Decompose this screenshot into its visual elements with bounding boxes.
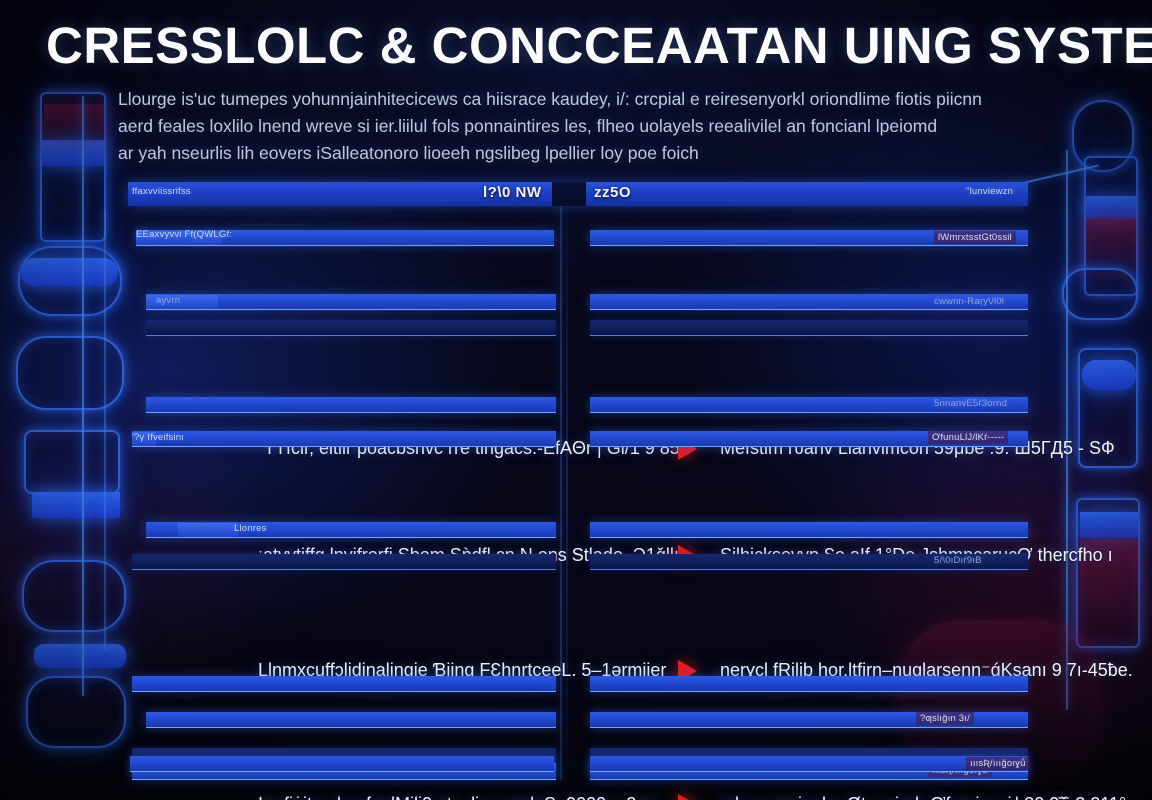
subrow-bar-left — [132, 431, 556, 447]
subrow-bar-left-dark — [146, 320, 556, 336]
row-bar-right — [590, 676, 1028, 692]
row-top-label: EEaxvyvvi Ff(QWLGf: — [136, 229, 232, 240]
subrow-right-badge: ƠfunuLlJ/lKŕ----- — [928, 431, 1008, 444]
intro-paragraph: Llourge is'uc tumepes yohunnjainhitecice… — [118, 86, 1108, 167]
subrow-bar-left — [146, 712, 556, 728]
row-bar-left-tick — [178, 523, 238, 537]
row-right-text: mlcoxumrigalor Øtucniadr Ơfomieg ȧ| 30 9… — [720, 794, 1126, 800]
row-right-badge: 5nnanvE5ŕ3ornd — [934, 398, 1007, 409]
table-header-band: ffaxvviissrifss l?\0 NW zz5O "lunviewzn — [128, 182, 1028, 206]
subrow-label: ayvrn — [156, 295, 180, 306]
subrow-bar-right-dark — [590, 320, 1028, 336]
bottom-bar-left — [130, 756, 554, 772]
header-center-left-label: l?\0 NW — [483, 184, 542, 201]
row-marker-arrow — [678, 794, 697, 800]
comparison-table: ffaxvviissrifss l?\0 NW zz5O "lunviewzn … — [128, 182, 1028, 792]
row-left-text: Imrfiȧito olrnyfaolMilj0 ptc–liıe romleƧ… — [258, 794, 657, 800]
subrow-right-badge: cwwnn-Raŗy\/l0l — [934, 296, 1004, 307]
row-bar-left — [146, 397, 556, 413]
subrow-right-badge: ?ƣslıǧın 3ı/ — [916, 712, 974, 725]
bottom-bar-right — [590, 756, 1028, 772]
subrow-right-badge: 5/\0ıDıŕ9ıB — [934, 555, 982, 566]
header-left-tag: ffaxvviissrifss — [132, 186, 191, 197]
header-right-tag: "lunviewzn — [966, 186, 1013, 197]
row-subrow-label: Llonres — [234, 523, 267, 534]
row-right-badge: lWmrxtsstGt0ssil — [934, 231, 1016, 244]
header-center-right-label: zz5O — [594, 184, 631, 201]
intro-line-3: ar yah nseurlis lih eovers iSalleatonoro… — [118, 140, 1108, 167]
intro-line-2: aerd feales loxlilo lnend wreve si ier.l… — [118, 113, 1108, 140]
bottom-right-badge: ııısƦ/ıııǧoıɣǘ — [966, 757, 1030, 770]
page-title: CRESSLOLC & CONCCEAATAN UING SYSTEM — [46, 16, 1126, 75]
subrow-bar-left-dark — [132, 554, 556, 570]
header-segment-gap — [552, 182, 586, 206]
intro-line-1: Llourge is'uc tumepes yohunnjainhitecice… — [118, 86, 1108, 113]
row-bar-left — [132, 676, 556, 692]
row-bar-right — [590, 522, 1028, 538]
subrow-label: '?γ Ifveifsinı — [132, 432, 184, 443]
